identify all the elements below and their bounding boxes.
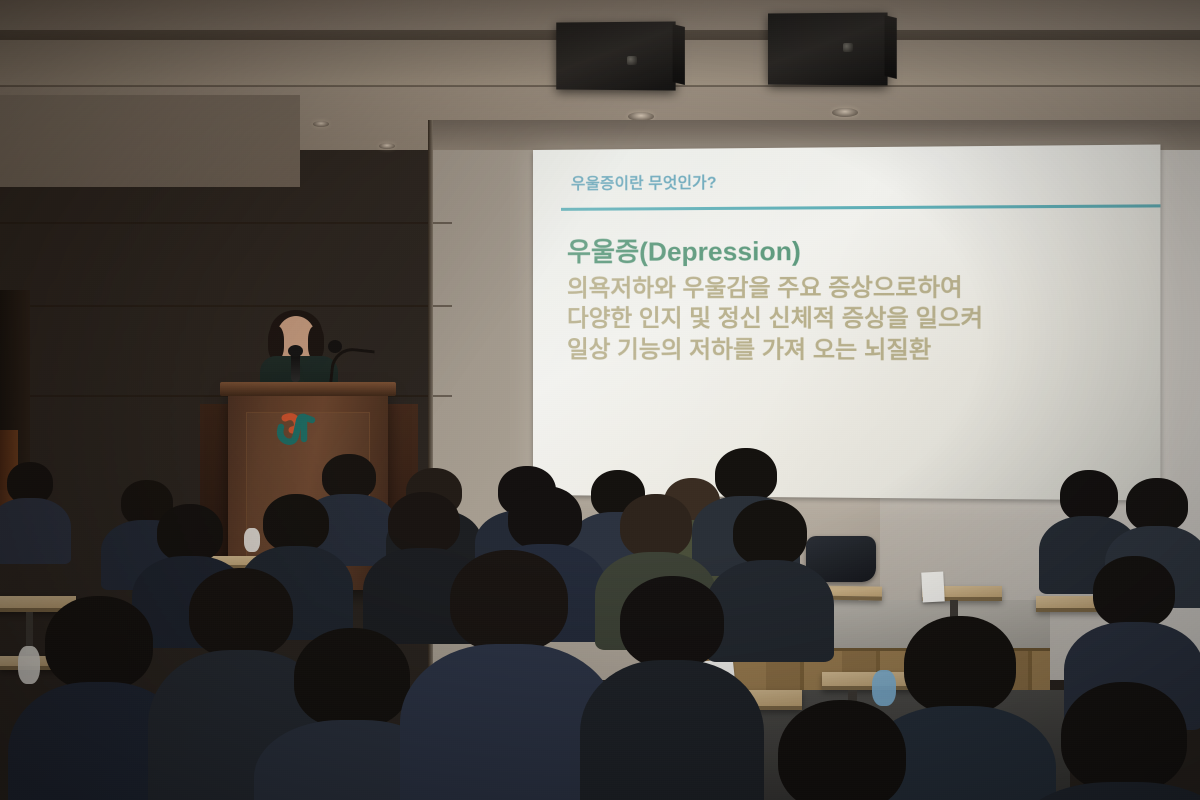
head [157, 504, 223, 562]
slide-body: 우울증(Depression) 의욕저하와 우울감을 주요 증상으로하여 다양한… [567, 233, 1155, 365]
ceiling-speaker-right-icon [768, 13, 888, 86]
ceiling-speaker-left-icon [556, 21, 675, 90]
head [620, 494, 692, 558]
paper-sheet [921, 571, 945, 602]
slide-body-line-3: 일상 기능의 저하를 가져 오는 뇌질환 [567, 334, 1155, 366]
head [778, 700, 906, 800]
slide-title: 우울증이란 무엇인가? [571, 171, 717, 194]
projection-screen: 우울증이란 무엇인가? 우울증(Depression) 의욕저하와 우울감을 주… [533, 144, 1160, 500]
head [620, 576, 724, 668]
slide-body-line-1: 의욕저하와 우울감을 주요 증상으로하여 [567, 271, 1155, 303]
torso [580, 660, 764, 800]
face-mask [244, 528, 260, 552]
slide-divider-rule [561, 204, 1160, 210]
head [508, 486, 582, 550]
list-item [1076, 556, 1192, 696]
torso [1019, 782, 1200, 800]
head [1061, 682, 1187, 792]
speaker-driver [843, 43, 853, 52]
head [733, 500, 807, 566]
panel-seam [0, 305, 452, 307]
head [715, 448, 777, 502]
slide-heading: 우울증(Depression) [567, 233, 1155, 269]
list-item [596, 576, 748, 800]
list-item [0, 462, 66, 552]
left-ceiling-soffit [0, 95, 300, 187]
head [388, 492, 460, 554]
presenter-hair-left [268, 326, 284, 360]
head [450, 550, 568, 652]
gooseneck-microphone-capsule [328, 340, 342, 353]
head [263, 494, 329, 552]
list-item [1036, 682, 1200, 800]
downlight-icon [832, 108, 858, 117]
face-mask [18, 646, 40, 684]
speaker-side-face [673, 24, 685, 85]
slide-body-line-2: 다양한 인지 및 정신 신체적 증상을 일으켜 [567, 303, 1155, 335]
head [1093, 556, 1175, 628]
list-item [424, 550, 594, 800]
head [1126, 478, 1188, 532]
torso [0, 498, 71, 564]
head [294, 628, 410, 728]
microphone-head-icon [288, 345, 303, 357]
podium-top [220, 382, 396, 396]
panel-seam [0, 222, 452, 224]
presenter-hair-right [308, 326, 324, 360]
head [45, 596, 153, 690]
lecture-hall-photo: 우울증이란 무엇인가? 우울증(Depression) 의욕저하와 우울감을 주… [0, 0, 1200, 800]
head [1060, 470, 1118, 522]
speaker-driver [627, 56, 637, 65]
speaker-side-face [884, 15, 896, 79]
list-item [752, 700, 932, 800]
